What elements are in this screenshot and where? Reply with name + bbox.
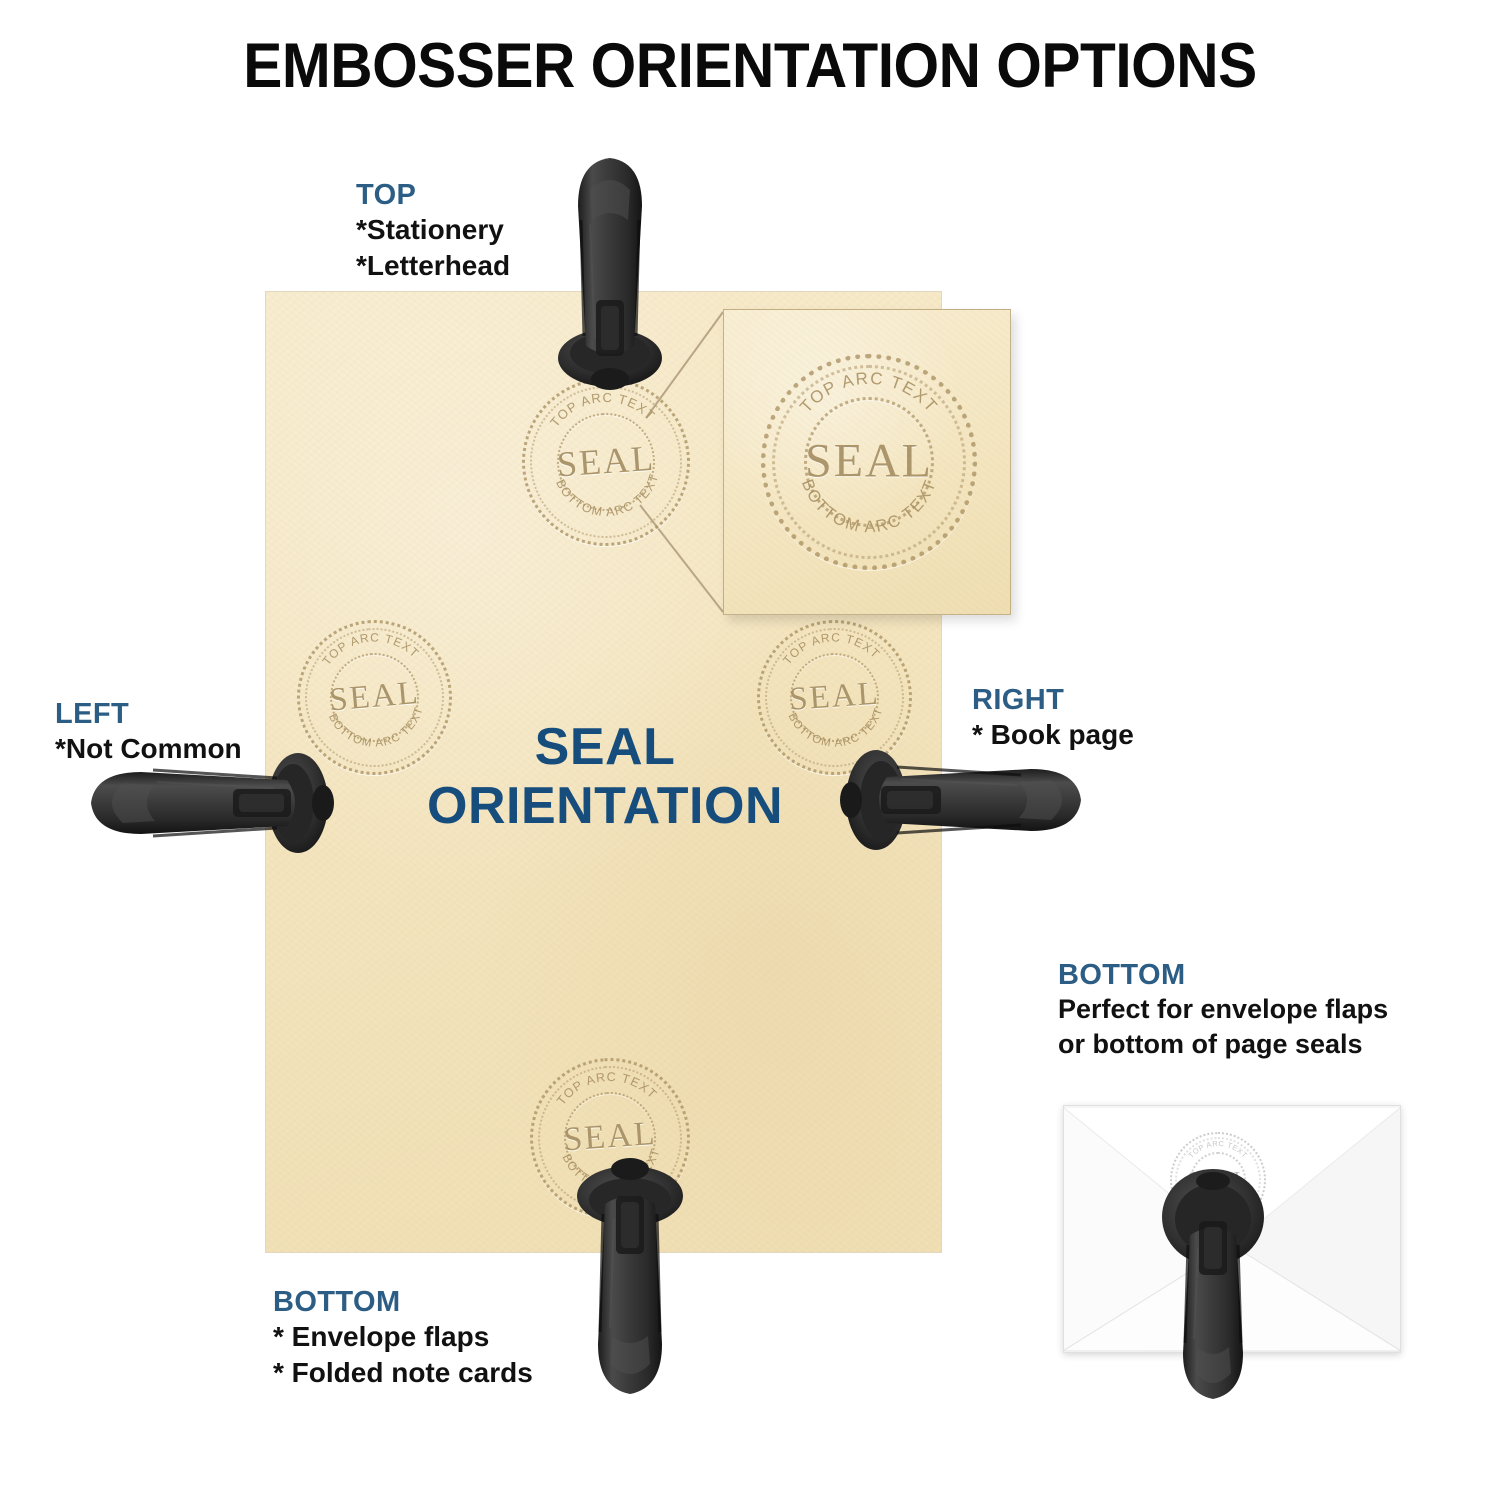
callout-envelope-line-2: or bottom of page seals	[1058, 1027, 1388, 1062]
callout-top-heading: TOP	[356, 178, 510, 212]
seal-top-arc-text: TOP ARC TEXT	[796, 369, 941, 417]
embosser-tool-left	[83, 752, 341, 854]
page-title: EMBOSSER ORIENTATION OPTIONS	[53, 30, 1448, 102]
callout-left-heading: LEFT	[55, 697, 242, 731]
seal-orientation-label-line1: SEAL	[330, 718, 880, 777]
callout-bottom-line-2: * Folded note cards	[273, 1355, 533, 1391]
seal-bottom-arc-text: BOTTOM ARC TEXT	[798, 477, 940, 536]
callout-top-line-1: *Stationery	[356, 212, 510, 248]
embosser-tool-bottom	[565, 1152, 695, 1402]
embosser-tool-icon	[1152, 1175, 1274, 1405]
callout-top: TOP *Stationery *Letterhead	[356, 178, 510, 284]
callout-bottom-line-1: * Envelope flaps	[273, 1319, 533, 1355]
callout-top-line-2: *Letterhead	[356, 248, 510, 284]
callout-right-line-1: * Book page	[972, 717, 1134, 753]
callout-left: LEFT *Not Common	[55, 697, 242, 767]
seal-inner-ring	[804, 397, 934, 527]
embosser-tool-top	[548, 150, 672, 392]
embosser-tool-right	[845, 748, 1087, 852]
seal-arc-text: TOP ARC TEXT BOTTOM ARC TEXT	[761, 354, 977, 570]
seal-bead-ring	[772, 365, 966, 559]
embosser-tool-icon	[548, 150, 672, 392]
embosser-tool-icon	[845, 748, 1087, 852]
seal-orientation-label-line2: ORIENTATION	[330, 777, 880, 836]
callout-bottom-heading: BOTTOM	[273, 1285, 533, 1319]
callout-left-line-1: *Not Common	[55, 731, 242, 767]
embosser-tool-icon	[565, 1152, 695, 1402]
seal-impression-magnified: TOP ARC TEXT BOTTOM ARC TEXT SEAL	[761, 354, 977, 570]
infographic-canvas: EMBOSSER ORIENTATION OPTIONS TOP ARC TEX…	[0, 0, 1500, 1500]
svg-text:BOTTOM ARC TEXT: BOTTOM ARC TEXT	[798, 477, 940, 536]
seal-outer-ring	[761, 354, 977, 570]
callout-right-heading: RIGHT	[972, 683, 1134, 717]
embosser-tool-envelope	[1152, 1175, 1274, 1405]
callout-envelope-heading: BOTTOM	[1058, 958, 1388, 992]
embosser-tool-icon	[83, 752, 341, 854]
seal-center-word: SEAL	[761, 433, 977, 488]
svg-text:TOP ARC TEXT: TOP ARC TEXT	[796, 369, 941, 417]
callout-right: RIGHT * Book page	[972, 683, 1134, 753]
callout-envelope: BOTTOM Perfect for envelope flaps or bot…	[1058, 958, 1388, 1061]
magnified-detail-panel: TOP ARC TEXT BOTTOM ARC TEXT SEAL	[723, 309, 1011, 615]
callout-bottom: BOTTOM * Envelope flaps * Folded note ca…	[273, 1285, 533, 1391]
callout-envelope-line-1: Perfect for envelope flaps	[1058, 992, 1388, 1027]
seal-orientation-label: SEAL ORIENTATION	[330, 718, 880, 837]
